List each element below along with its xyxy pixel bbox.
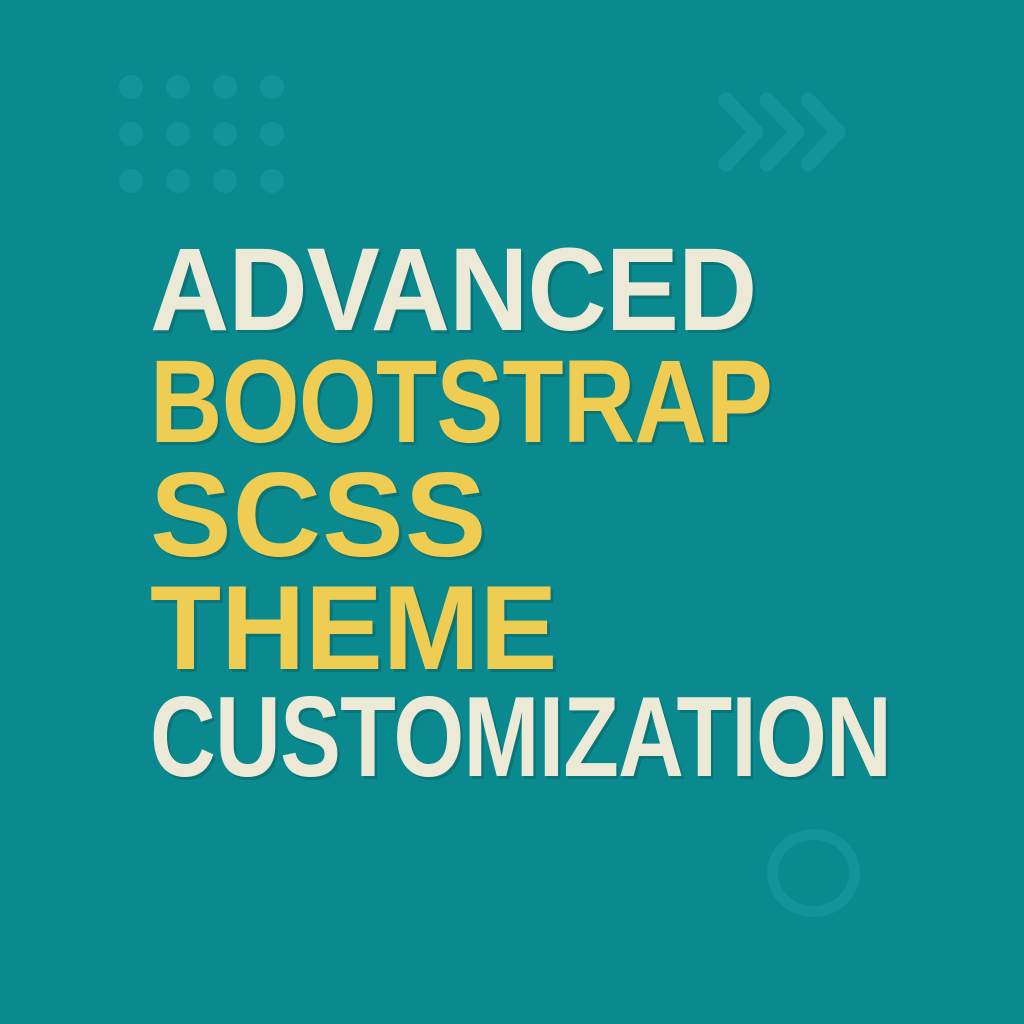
dot-grid-pattern (119, 75, 284, 193)
grid-dot (119, 169, 143, 193)
grid-dot (260, 75, 284, 99)
grid-dot (119, 75, 143, 99)
grid-dot (260, 122, 284, 146)
circle-outline-icon (767, 829, 860, 917)
chevron-right-icon (718, 92, 858, 172)
page-title: ADVANCED BOOTSTRAP SCSS THEME CUSTOMIZAT… (150, 236, 990, 795)
headline-line-bootstrap: BOOTSTRAP (150, 348, 990, 460)
headline-text-advanced: ADVANCED (150, 236, 756, 346)
grid-dot (213, 169, 237, 193)
grid-dot (166, 75, 190, 99)
headline-text-theme: THEME (150, 573, 557, 685)
headline-text-scss: SCSS (150, 460, 487, 572)
headline-text-bootstrap: BOOTSTRAP (150, 348, 772, 458)
headline-line-customization: CUSTOMIZATION (150, 685, 990, 795)
triple-chevron-right-icon (718, 92, 858, 172)
grid-dot (213, 75, 237, 99)
grid-dot (166, 169, 190, 193)
headline-text-customization: CUSTOMIZATION (150, 685, 891, 791)
grid-dot (260, 169, 284, 193)
poster-canvas: ADVANCED BOOTSTRAP SCSS THEME CUSTOMIZAT… (0, 0, 1024, 1024)
headline-line-theme: THEME (150, 573, 990, 685)
grid-dot (213, 122, 237, 146)
headline-line-scss: SCSS (150, 460, 990, 573)
grid-dot (119, 122, 143, 146)
grid-dot (166, 122, 190, 146)
headline-line-advanced: ADVANCED (150, 236, 990, 348)
